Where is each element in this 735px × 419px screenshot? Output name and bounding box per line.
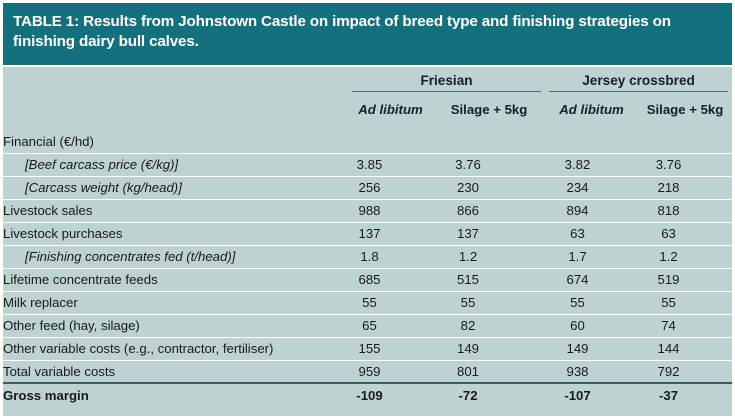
table-head: Friesian Jersey crossbred Ad libitum Sil… [3, 67, 732, 130]
table-row: Lifetime concentrate feeds 685 515 674 5… [3, 268, 732, 291]
table-row: Milk replacer 55 55 55 55 [3, 291, 732, 314]
row-value-jersey-silage: 218 [638, 176, 732, 199]
row-value-jersey-ad-libitum: 894 [545, 199, 638, 222]
row-label: Gross margin [3, 383, 348, 406]
row-value-friesian-silage: 801 [433, 360, 545, 383]
table-row: [Beef carcass price (€/kg)] 3.85 3.76 3.… [3, 153, 732, 176]
row-value-friesian-ad-libitum: -109 [348, 383, 433, 406]
table-row: [Carcass weight (kg/head)] 256 230 234 2… [3, 176, 732, 199]
row-value-friesian-silage: 230 [433, 176, 545, 199]
subheader-friesian-silage: Silage + 5kg [433, 96, 545, 121]
row-value-jersey-silage: 818 [638, 199, 732, 222]
row-value-friesian-ad-libitum: 155 [348, 337, 433, 360]
group-header-jersey-crossbred: Jersey crossbred [545, 67, 732, 96]
row-value-jersey-silage [638, 130, 732, 153]
row-value-jersey-silage: 519 [638, 268, 732, 291]
row-value-friesian-silage: 1.2 [433, 245, 545, 268]
row-value-jersey-silage: 55 [638, 291, 732, 314]
group-header-jersey-crossbred-label: Jersey crossbred [549, 73, 728, 92]
row-value-jersey-silage: 144 [638, 337, 732, 360]
row-label: Other feed (hay, silage) [3, 314, 348, 337]
group-header-row: Friesian Jersey crossbred [3, 67, 732, 96]
row-value-friesian-silage: 149 [433, 337, 545, 360]
row-value-friesian-silage: 866 [433, 199, 545, 222]
table-container: Friesian Jersey crossbred Ad libitum Sil… [3, 67, 732, 416]
row-value-jersey-silage: -37 [638, 383, 732, 406]
row-value-jersey-ad-libitum: 1.7 [545, 245, 638, 268]
row-value-jersey-ad-libitum: 55 [545, 291, 638, 314]
table-body: Financial (€/hd) [Beef carcass price (€/… [3, 130, 732, 406]
subheader-jersey-ad-libitum: Ad libitum [545, 96, 638, 121]
row-value-friesian-ad-libitum: 3.85 [348, 153, 433, 176]
row-value-friesian-ad-libitum: 685 [348, 268, 433, 291]
table-row: Total variable costs 959 801 938 792 [3, 360, 732, 383]
results-table: Friesian Jersey crossbred Ad libitum Sil… [3, 67, 732, 406]
row-value-friesian-ad-libitum: 256 [348, 176, 433, 199]
row-value-friesian-ad-libitum: 65 [348, 314, 433, 337]
row-value-jersey-ad-libitum: 938 [545, 360, 638, 383]
row-value-friesian-silage: 55 [433, 291, 545, 314]
subheader-friesian-ad-libitum: Ad libitum [348, 96, 433, 121]
row-value-friesian-silage: -72 [433, 383, 545, 406]
row-label: Lifetime concentrate feeds [3, 268, 348, 291]
row-value-friesian-ad-libitum: 959 [348, 360, 433, 383]
table-bottom-padding [3, 408, 732, 416]
row-label: [Carcass weight (kg/head)] [3, 176, 348, 199]
row-label: [Beef carcass price (€/kg)] [3, 153, 348, 176]
table-caption-banner: TABLE 1: Results from Johnstown Castle o… [3, 3, 732, 65]
row-value-jersey-silage: 792 [638, 360, 732, 383]
table-figure: TABLE 1: Results from Johnstown Castle o… [0, 0, 735, 419]
header-spacer-cell [3, 121, 732, 130]
row-value-friesian-ad-libitum: 55 [348, 291, 433, 314]
row-value-jersey-ad-libitum: 60 [545, 314, 638, 337]
row-value-jersey-silage: 63 [638, 222, 732, 245]
row-value-friesian-ad-libitum: 988 [348, 199, 433, 222]
row-value-jersey-ad-libitum: 234 [545, 176, 638, 199]
row-label: [Finishing concentrates fed (t/head)] [3, 245, 348, 268]
row-value-jersey-ad-libitum: 674 [545, 268, 638, 291]
row-label: Livestock purchases [3, 222, 348, 245]
row-label: Financial (€/hd) [3, 130, 348, 153]
row-value-friesian-silage: 3.76 [433, 153, 545, 176]
row-label: Total variable costs [3, 360, 348, 383]
table-row: [Finishing concentrates fed (t/head)] 1.… [3, 245, 732, 268]
row-label: Milk replacer [3, 291, 348, 314]
row-label-text: [Carcass weight (kg/head)] [3, 180, 182, 195]
row-label-text: [Finishing concentrates fed (t/head)] [3, 249, 235, 264]
group-header-friesian-label: Friesian [352, 73, 541, 92]
row-value-friesian-silage: 515 [433, 268, 545, 291]
row-value-friesian-ad-libitum [348, 130, 433, 153]
subheader-jersey-silage: Silage + 5kg [638, 96, 732, 121]
subheader-spacer [3, 96, 348, 121]
row-value-jersey-ad-libitum [545, 130, 638, 153]
group-header-spacer [3, 67, 348, 96]
table-row: Financial (€/hd) [3, 130, 732, 153]
row-value-friesian-silage: 137 [433, 222, 545, 245]
table-row-total: Gross margin -109 -72 -107 -37 [3, 383, 732, 406]
row-value-jersey-ad-libitum: 3.82 [545, 153, 638, 176]
row-value-friesian-ad-libitum: 1.8 [348, 245, 433, 268]
row-value-friesian-ad-libitum: 137 [348, 222, 433, 245]
table-row: Other variable costs (e.g., contractor, … [3, 337, 732, 360]
row-value-friesian-silage [433, 130, 545, 153]
row-value-friesian-silage: 82 [433, 314, 545, 337]
row-label: Livestock sales [3, 199, 348, 222]
table-row: Other feed (hay, silage) 65 82 60 74 [3, 314, 732, 337]
row-label-text: [Beef carcass price (€/kg)] [3, 157, 178, 172]
row-value-jersey-ad-libitum: 63 [545, 222, 638, 245]
header-spacer-row [3, 121, 732, 130]
row-value-jersey-silage: 1.2 [638, 245, 732, 268]
row-value-jersey-ad-libitum: 149 [545, 337, 638, 360]
row-value-jersey-ad-libitum: -107 [545, 383, 638, 406]
row-value-jersey-silage: 74 [638, 314, 732, 337]
table-row: Livestock sales 988 866 894 818 [3, 199, 732, 222]
table-row: Livestock purchases 137 137 63 63 [3, 222, 732, 245]
table-caption-text: TABLE 1: Results from Johnstown Castle o… [13, 12, 720, 52]
row-label: Other variable costs (e.g., contractor, … [3, 337, 348, 360]
subheader-row: Ad libitum Silage + 5kg Ad libitum Silag… [3, 96, 732, 121]
row-value-jersey-silage: 3.76 [638, 153, 732, 176]
group-header-friesian: Friesian [348, 67, 545, 96]
